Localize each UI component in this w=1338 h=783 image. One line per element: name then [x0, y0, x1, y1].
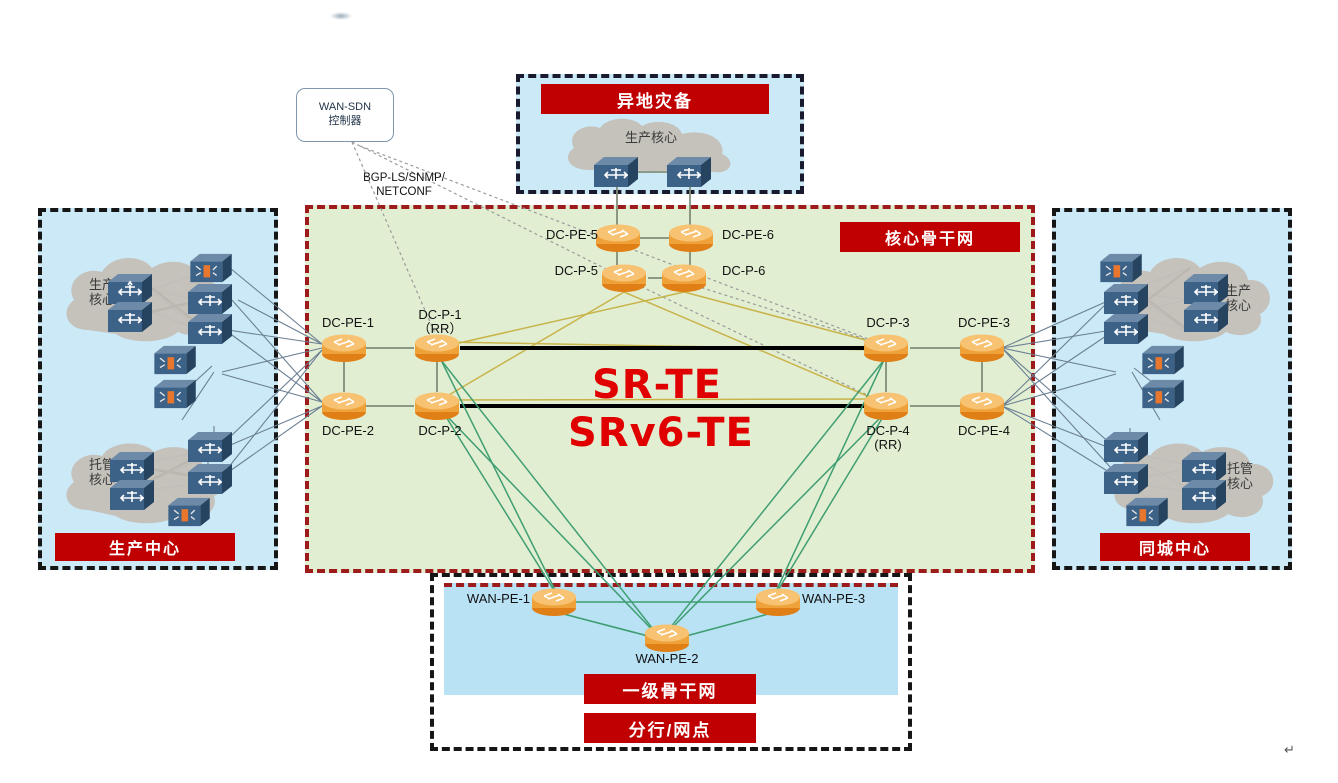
- switch-icon: [1104, 282, 1150, 316]
- switch-icon: [594, 155, 640, 189]
- router-icon: [862, 332, 910, 364]
- router-icon: [530, 586, 578, 618]
- node-label-wan-pe-3: WAN-PE-3: [802, 592, 892, 606]
- cloud-dr-core: [556, 118, 746, 180]
- switch-icon: [188, 312, 234, 346]
- switch-icon: [1104, 462, 1150, 496]
- controller-title-line1: WAN-SDN: [319, 101, 371, 115]
- router-icon: [643, 622, 691, 654]
- banner-primary-backbone: 一级骨干网: [584, 674, 756, 704]
- node-label-wan-pe-2: WAN-PE-2: [617, 652, 717, 666]
- banner-branch: 分行/网点: [584, 713, 756, 743]
- firewall-icon: [1126, 496, 1170, 528]
- firewall-icon: [168, 496, 212, 528]
- switch-icon: [667, 155, 713, 189]
- controller-title-line2: 控制器: [329, 115, 362, 129]
- router-icon: [320, 390, 368, 422]
- cloud-dr-core-label: 生产核心: [596, 131, 706, 146]
- node-label-dc-p-4: DC-P-4 (RR): [848, 424, 928, 453]
- router-icon: [594, 222, 642, 254]
- switch-icon: [1182, 478, 1228, 512]
- banner-disaster-recovery: 异地灾备: [541, 84, 769, 114]
- router-icon: [413, 332, 461, 364]
- router-icon: [667, 222, 715, 254]
- firewall-icon: [1100, 252, 1144, 284]
- router-icon: [413, 390, 461, 422]
- firewall-icon: [154, 378, 198, 410]
- srte-label: SR-TE: [592, 362, 722, 408]
- switch-icon: [188, 462, 234, 496]
- firewall-icon: [154, 344, 198, 376]
- firewall-icon: [1142, 378, 1186, 410]
- router-icon: [320, 332, 368, 364]
- switch-icon: [1104, 312, 1150, 346]
- banner-city-center: 同城中心: [1100, 533, 1250, 561]
- switch-icon: [1184, 300, 1230, 334]
- node-label-dc-pe-6: DC-PE-6: [722, 228, 812, 242]
- wan-sdn-controller[interactable]: WAN-SDN 控制器: [296, 88, 394, 142]
- switch-icon: [188, 282, 234, 316]
- router-icon: [600, 262, 648, 294]
- banner-core-backbone: 核心骨干网: [840, 222, 1020, 252]
- router-icon: [660, 262, 708, 294]
- router-icon: [862, 390, 910, 422]
- router-icon: [958, 390, 1006, 422]
- top-artifact: [330, 12, 352, 20]
- switch-icon: [1104, 430, 1150, 464]
- node-label-dc-pe-2: DC-PE-2: [308, 424, 388, 438]
- firewall-icon: [190, 252, 234, 284]
- diagram-canvas: 生产核心 生产 核心 托管 核心 生产 核心 托管 核心: [0, 0, 1338, 783]
- node-label-dc-p-6: DC-P-6: [722, 264, 802, 278]
- firewall-icon: [1142, 344, 1186, 376]
- switch-icon: [110, 478, 156, 512]
- node-label-dc-p-2: DC-P-2: [400, 424, 480, 438]
- router-icon: [958, 332, 1006, 364]
- controller-protocol-label: BGP-LS/SNMP/ NETCONF: [334, 172, 474, 200]
- router-icon: [754, 586, 802, 618]
- switch-icon: [188, 430, 234, 464]
- node-label-dc-pe-3: DC-PE-3: [944, 316, 1024, 330]
- paragraph-mark: ↵: [1284, 742, 1295, 758]
- node-label-dc-p-5: DC-P-5: [518, 264, 598, 278]
- node-label-dc-p-1: DC-P-1 （RR）: [398, 308, 482, 337]
- node-label-wan-pe-1: WAN-PE-1: [440, 592, 530, 606]
- node-label-dc-pe-1: DC-PE-1: [308, 316, 388, 330]
- switch-icon: [108, 300, 154, 334]
- banner-production-center: 生产中心: [55, 533, 235, 561]
- srv6te-label: SRv6-TE: [568, 410, 754, 456]
- node-label-dc-pe-4: DC-PE-4: [944, 424, 1024, 438]
- node-label-dc-p-3: DC-P-3: [848, 316, 928, 330]
- node-label-dc-pe-5: DC-PE-5: [508, 228, 598, 242]
